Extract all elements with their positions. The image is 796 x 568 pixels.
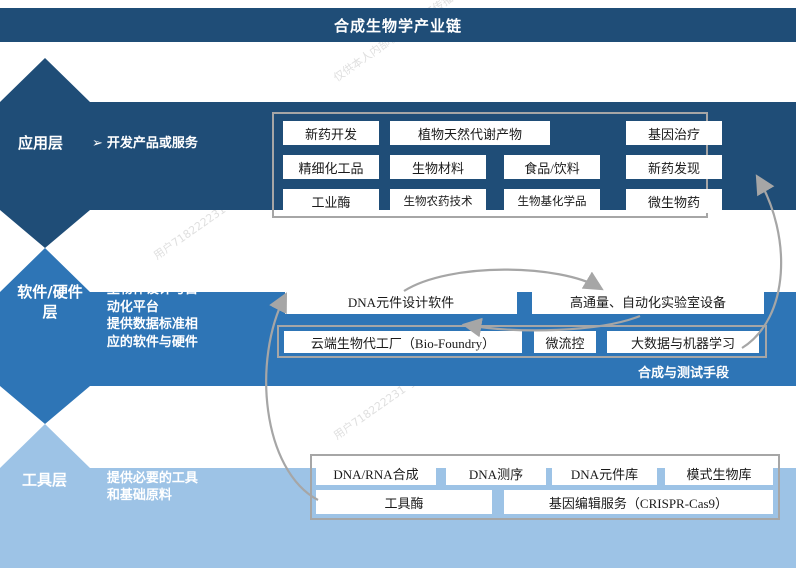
caption-automated-processing-system: 自动处理系统	[660, 268, 738, 287]
software-cell-cloud-bio-foundry[interactable]: 云端生物代工厂（Bio-Foundry）	[284, 331, 522, 353]
tool-cell-dna-sequencing[interactable]: DNA测序	[446, 461, 546, 485]
bullet-arrow-icon: ➢	[92, 281, 103, 299]
layer-bullet-line: 动化平台	[107, 299, 198, 317]
layer-name-tool: 工具层	[22, 470, 67, 490]
layer-bullet-line: 开发使能技术	[107, 452, 198, 470]
tool-cell-tool-enzymes[interactable]: 工具酶	[316, 490, 492, 514]
diagram-title-bar: 合成生物学产业链	[0, 8, 796, 42]
layer-bullet-tool: ➢ 开发使能技术 提供必要的工具 和基础原料	[92, 452, 198, 505]
bullet-arrow-icon: ➢	[92, 135, 103, 153]
application-cell-gene-therapy[interactable]: 基因治疗	[626, 121, 722, 145]
tool-cell-dna-rna-synthesis[interactable]: DNA/RNA合成	[316, 461, 436, 485]
software-cell-high-throughput-automated-lab-equipment[interactable]: 高通量、自动化实验室设备	[532, 289, 764, 314]
application-cell-new-drug-development[interactable]: 新药开发	[283, 121, 379, 145]
application-cell-food-beverage[interactable]: 食品/饮料	[504, 155, 600, 179]
application-cell-fine-chemicals[interactable]: 精细化工品	[283, 155, 379, 179]
caption-synthesis-testing-methods: 合成与测试手段	[638, 362, 729, 381]
application-cell-biobased-chemicals[interactable]: 生物基化学品	[504, 189, 600, 213]
layer-bullet-software-hardware: ➢ 生物体设计与自 动化平台 提供数据标准相 应的软件与硬件	[92, 281, 198, 351]
caption-engineering-design: 工程设计	[294, 268, 346, 287]
layer-bullet-line: 提供数据标准相	[107, 316, 198, 334]
application-cell-biopesticide-technology[interactable]: 生物农药技术	[390, 189, 486, 213]
diagram-canvas: 仅供本人内部使用，不可传播与转载 用户718222231 于 2023-08-1…	[0, 0, 796, 568]
application-cell-biomaterials[interactable]: 生物材料	[390, 155, 486, 179]
layer-name-software-hardware-text: 软件/硬件层	[17, 283, 82, 321]
application-cell-plant-natural-metabolites[interactable]: 植物天然代谢产物	[390, 121, 550, 145]
layer-bullet-line: 提供必要的工具	[107, 470, 198, 488]
layer-bullet-line: 和基础原料	[107, 487, 198, 505]
tool-cell-model-organism-library[interactable]: 模式生物库	[665, 461, 773, 485]
software-cell-dna-part-design-software[interactable]: DNA元件设计软件	[285, 289, 517, 314]
layer-bullet-line: 生物体设计与自	[107, 281, 198, 299]
software-cell-microfluidics[interactable]: 微流控	[534, 331, 596, 353]
tool-cell-dna-part-library[interactable]: DNA元件库	[552, 461, 657, 485]
application-cell-industrial-enzymes[interactable]: 工业酶	[283, 189, 379, 213]
layer-name-application: 应用层	[18, 133, 63, 153]
layer-name-software-hardware: 软件/硬件层	[14, 283, 86, 322]
layer-bullet-line: 开发产品或服务	[107, 135, 198, 153]
software-cell-big-data-machine-learning[interactable]: 大数据与机器学习	[607, 331, 759, 353]
application-cell-drug-discovery[interactable]: 新药发现	[626, 155, 722, 179]
tool-cell-gene-editing-service[interactable]: 基因编辑服务（CRISPR-Cas9）	[504, 490, 773, 514]
bullet-arrow-icon: ➢	[92, 452, 103, 470]
layer-bullet-application: ➢ 开发产品或服务	[92, 135, 198, 153]
application-cell-microbial-drugs[interactable]: 微生物药	[626, 189, 722, 213]
page-title: 合成生物学产业链	[334, 15, 462, 36]
layer-bullet-line: 应的软件与硬件	[107, 334, 198, 352]
